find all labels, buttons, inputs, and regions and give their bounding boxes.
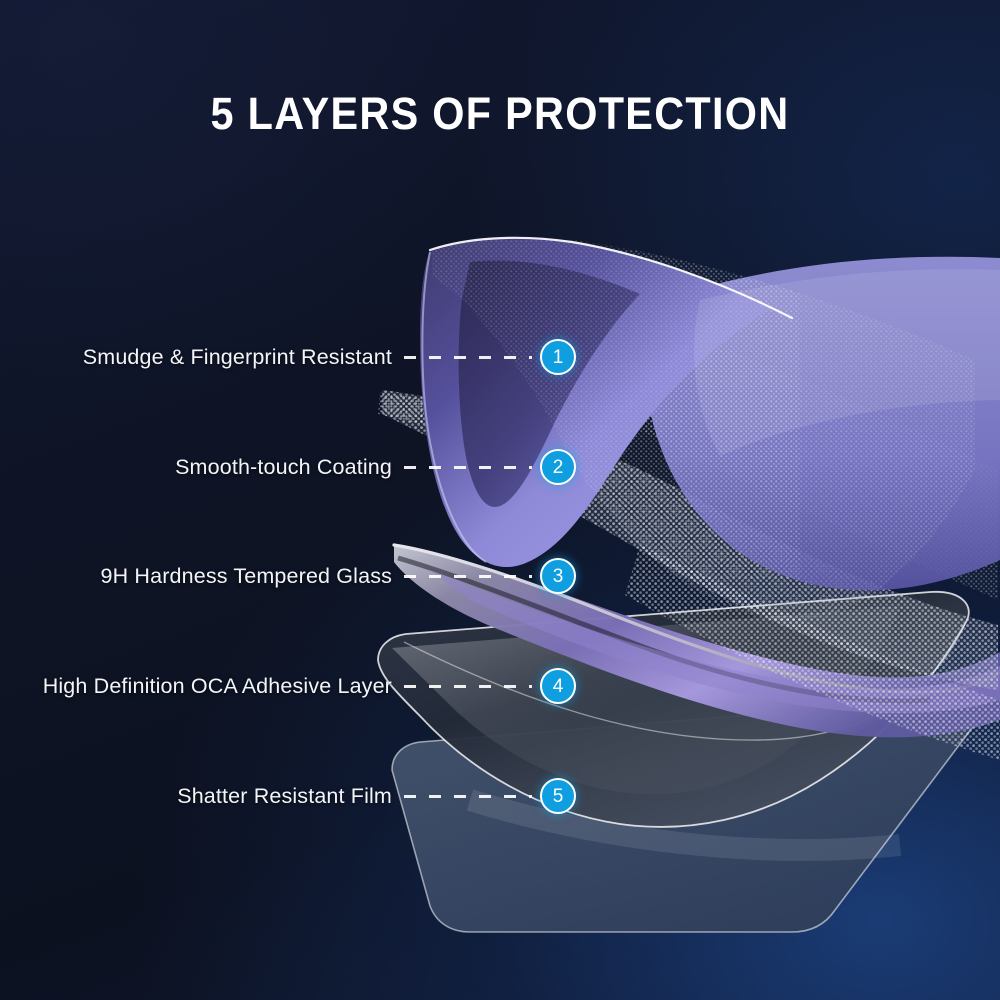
callout-row-4: High Definition OCA Adhesive Layer 4 — [0, 666, 620, 706]
callout-row-2: Smooth-touch Coating 2 — [0, 447, 620, 487]
callout-row-1: Smudge & Fingerprint Resistant 1 — [0, 337, 620, 377]
layer-3-label: 9H Hardness Tempered Glass — [0, 564, 392, 589]
layer-1-label: Smudge & Fingerprint Resistant — [0, 345, 392, 370]
layer-5-label: Shatter Resistant Film — [0, 784, 392, 809]
callout-row-5: Shatter Resistant Film 5 — [0, 776, 620, 816]
page-title: 5 LAYERS OF PROTECTION — [40, 88, 960, 140]
layer-2-label: Smooth-touch Coating — [0, 455, 392, 480]
exploded-layer-illustration — [0, 0, 1000, 1000]
layer-number-badge-2[interactable]: 2 — [540, 449, 576, 485]
layer-number-badge-5[interactable]: 5 — [540, 778, 576, 814]
layer-number-badge-3[interactable]: 3 — [540, 558, 576, 594]
layer-4-label: High Definition OCA Adhesive Layer — [0, 674, 392, 699]
leader-dash-2 — [404, 466, 532, 469]
callout-row-3: 9H Hardness Tempered Glass 3 — [0, 556, 620, 596]
leader-dash-1 — [404, 356, 532, 359]
leader-dash-4 — [404, 685, 532, 688]
layer-number-badge-1[interactable]: 1 — [540, 339, 576, 375]
layer-number-badge-4[interactable]: 4 — [540, 668, 576, 704]
infographic-canvas: 5 LAYERS OF PROTECTION Smudge & Fingerpr… — [0, 0, 1000, 1000]
leader-dash-3 — [404, 575, 532, 578]
leader-dash-5 — [404, 795, 532, 798]
